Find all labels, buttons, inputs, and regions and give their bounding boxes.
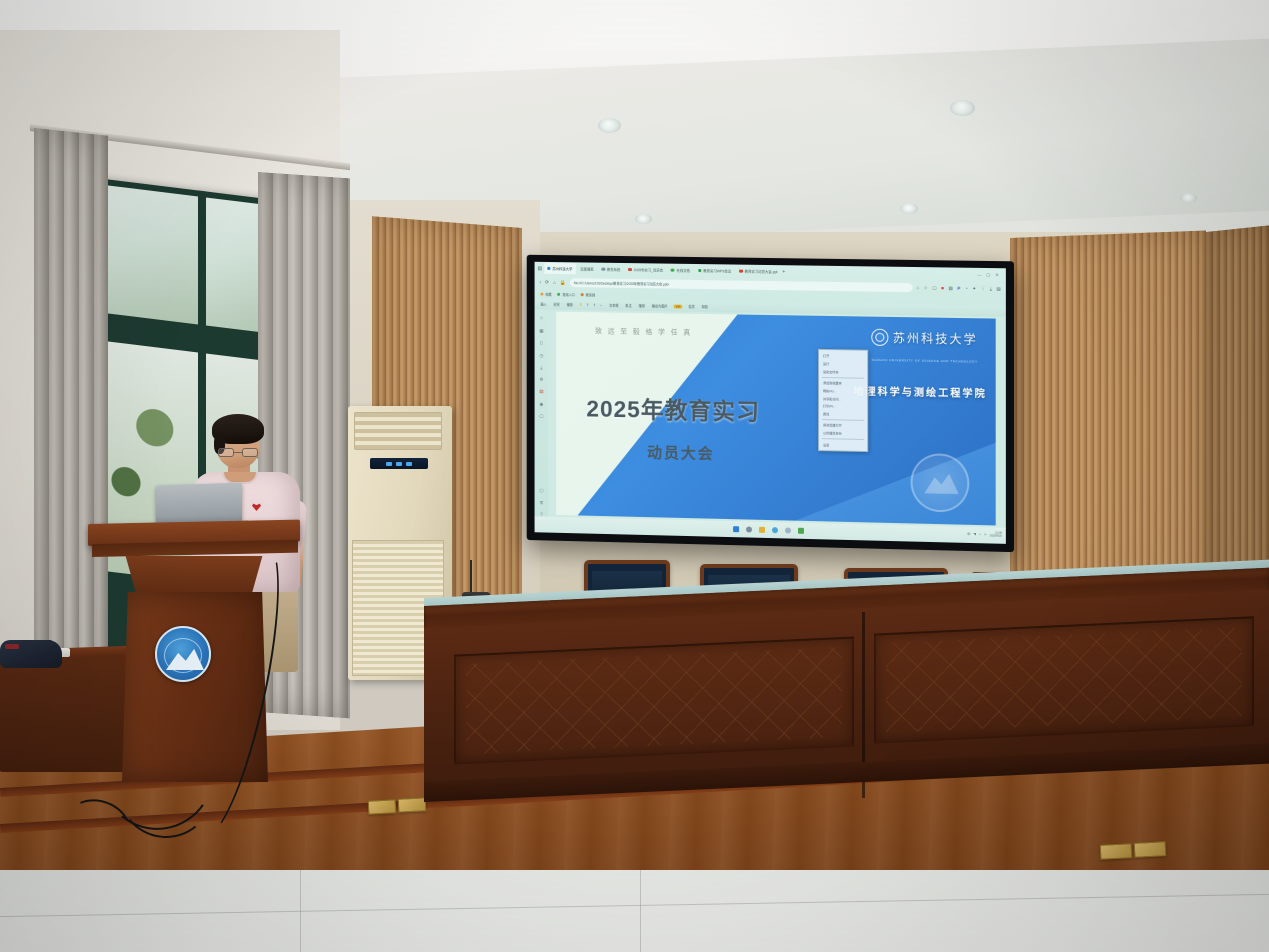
wps-tool-export[interactable]: 输出为图片 bbox=[651, 303, 669, 308]
trash-icon[interactable]: ▢ bbox=[539, 488, 543, 494]
slide-title: 2025年教育实习 bbox=[586, 389, 760, 426]
downlight-icon bbox=[950, 100, 975, 116]
context-menu-separator bbox=[822, 377, 864, 378]
favicon-icon bbox=[547, 267, 550, 271]
university-branding: 苏州科技大学 bbox=[872, 329, 978, 348]
table-panel-left bbox=[454, 636, 854, 764]
browser-tab[interactable]: 2025年实习_动员会 bbox=[625, 264, 666, 276]
settings-icon[interactable]: ⚙ bbox=[539, 376, 543, 382]
wps-tool-privilege[interactable]: 特权 bbox=[701, 304, 709, 309]
browser-tab[interactable]: 教育实习动员大会.ppt bbox=[736, 266, 780, 278]
favicon-icon bbox=[698, 269, 701, 273]
downlight-icon bbox=[1180, 193, 1197, 203]
college-name: 地理科学与测绘工程学院 bbox=[853, 382, 986, 400]
browser-toolbar-icons: ⌂ ☆ ▢ ■ ▧ P ◔ ✦ ⋮ ⤓ ▤ bbox=[916, 285, 1000, 292]
wps-tool-textbox[interactable]: 文本框 bbox=[608, 303, 619, 308]
context-menu-item[interactable]: 最新文件夹 bbox=[819, 367, 867, 376]
table-panel-right bbox=[874, 616, 1254, 743]
text-style-icon[interactable]: T bbox=[586, 303, 590, 307]
presentation-slide[interactable]: 致 远 至 毅 格 学 任 真 2025年教育实习 动员大会 苏州科技大学 SU… bbox=[556, 312, 996, 526]
downlight-icon bbox=[635, 214, 652, 224]
bookmark-label: 收藏 bbox=[545, 292, 551, 297]
context-menu[interactable]: 打开 运行 最新文件夹 添加到收藏夹 刷新(R)... 共享和访问... 打印(… bbox=[818, 349, 868, 452]
projection-screen[interactable]: ▤ 苏州科技大学 百度搜索 教务系统 2025年实习_动员会 bbox=[527, 255, 1014, 552]
browser-tab[interactable]: 在线文档 bbox=[668, 265, 693, 276]
glasses-bridge bbox=[234, 452, 242, 453]
menu-icon[interactable]: ⋮ bbox=[981, 286, 986, 292]
projected-desktop: ▤ 苏州科技大学 百度搜索 教务系统 2025年实习_动员会 bbox=[535, 262, 1006, 544]
text-align-icon[interactable]: T bbox=[593, 303, 597, 307]
wps-icon[interactable]: ■ bbox=[941, 286, 944, 291]
book-icon[interactable]: ▯ bbox=[540, 340, 542, 346]
browser-side-rail: ☆ ▦ ▯ ◷ ⤓ ⚙ ▤ ◉ ▢ ▢ ⛨ ? bbox=[535, 309, 549, 516]
context-menu-item[interactable]: 以管理员身份 bbox=[819, 429, 867, 438]
note-icon[interactable]: ▤ bbox=[539, 389, 543, 395]
bookmark-icon bbox=[540, 293, 543, 296]
tab-label: 在线文档 bbox=[676, 268, 689, 273]
text-color-icon[interactable]: T bbox=[579, 303, 583, 307]
browser-tab[interactable]: 百度搜索 bbox=[577, 263, 596, 274]
account-icon[interactable]: ◔ bbox=[965, 286, 968, 291]
window-icon[interactable]: ▢ bbox=[539, 413, 543, 419]
context-menu-separator bbox=[822, 419, 864, 420]
bookmark-icon[interactable]: ☆ bbox=[539, 315, 543, 321]
window-pane bbox=[102, 185, 198, 325]
browser-tab[interactable]: 教务系统 bbox=[599, 264, 624, 275]
system-tray: 中 ◥ ◑ ▭ 11:08 2025/9/20 bbox=[967, 531, 1001, 538]
wps-tool-zoom[interactable]: 缩放 bbox=[566, 302, 574, 307]
bookmark-item[interactable]: 教务网 bbox=[581, 292, 595, 297]
brass-floor-outlet[interactable] bbox=[398, 797, 427, 812]
downlight-icon bbox=[598, 118, 621, 133]
context-menu-item[interactable]: 设置 bbox=[819, 440, 867, 449]
close-button[interactable]: ✕ bbox=[995, 272, 998, 277]
podium-university-emblem-icon bbox=[155, 626, 211, 682]
wps-tool-comment[interactable]: 批注 bbox=[624, 303, 632, 308]
conference-room-photo: ▤ 苏州科技大学 百度搜索 教务系统 2025年实习_动员会 bbox=[0, 0, 1269, 952]
battery-icon[interactable]: ▭ bbox=[984, 532, 987, 536]
favicon-icon bbox=[739, 269, 742, 273]
glasses-lens-left bbox=[218, 448, 234, 457]
download-icon[interactable]: ⤓ bbox=[990, 286, 992, 291]
edge-icon[interactable] bbox=[771, 527, 777, 533]
tab-label: 教育实习WPS会议 bbox=[703, 268, 731, 273]
download-icon[interactable]: ⤓ bbox=[540, 365, 542, 370]
bookmark-label: 教务网 bbox=[586, 292, 595, 297]
favicon-icon bbox=[671, 268, 674, 272]
slide-handwriting-motto: 致 远 至 毅 格 学 任 真 bbox=[595, 327, 692, 339]
network-icon[interactable]: ◥ bbox=[973, 532, 975, 536]
collection-icon[interactable]: ▧ bbox=[948, 285, 952, 291]
downlight-icon bbox=[900, 203, 918, 214]
window-controls: — ▢ ✕ bbox=[977, 272, 1003, 277]
input-icon[interactable]: 中 bbox=[967, 532, 970, 536]
ac-louver-vent bbox=[354, 412, 442, 450]
grid-icon[interactable]: ▦ bbox=[539, 328, 543, 334]
favicon-icon bbox=[628, 268, 631, 272]
bookmark-label: 常用入口 bbox=[562, 292, 575, 297]
wps-tool-play[interactable]: 播放 bbox=[638, 303, 646, 308]
vip-badge: VIP bbox=[674, 304, 683, 308]
university-seal-icon bbox=[872, 329, 889, 346]
tab-label: 教育实习动员大会.ppt bbox=[745, 269, 778, 274]
bookmark-item[interactable]: 常用入口 bbox=[557, 292, 574, 297]
presenter-hair bbox=[212, 414, 264, 444]
watermark-seal-icon bbox=[910, 453, 969, 513]
volume-icon[interactable]: ◑ bbox=[979, 532, 981, 536]
clock-icon[interactable]: ◷ bbox=[539, 353, 543, 359]
context-menu-item[interactable]: 属性 bbox=[819, 410, 867, 419]
explorer-icon[interactable] bbox=[759, 527, 765, 533]
tab-list-icon[interactable]: ▤ bbox=[538, 265, 543, 271]
translate-icon[interactable]: P bbox=[957, 286, 960, 291]
brass-floor-outlet[interactable] bbox=[368, 799, 397, 814]
ac-led-display[interactable] bbox=[370, 458, 428, 469]
new-tab-button[interactable]: + bbox=[782, 269, 785, 275]
tab-label: 苏州科技大学 bbox=[552, 266, 572, 271]
home-icon[interactable]: ⌂ bbox=[553, 279, 556, 285]
minimize-button[interactable]: — bbox=[977, 272, 981, 277]
brass-floor-outlet[interactable] bbox=[1134, 841, 1167, 858]
browser-tab[interactable]: 苏州科技大学 bbox=[544, 263, 575, 274]
microphone-stem bbox=[470, 560, 472, 594]
back-icon[interactable]: ‹ bbox=[539, 279, 541, 285]
backpack-bag[interactable] bbox=[0, 640, 62, 668]
bookmark-icon bbox=[557, 293, 560, 296]
tab-label: 百度搜索 bbox=[580, 266, 593, 271]
table-diamond-pattern bbox=[886, 627, 1242, 733]
wps-text-tools: T T T ⌐ bbox=[579, 303, 603, 307]
reload-icon[interactable]: ⟳ bbox=[545, 279, 549, 285]
brass-floor-outlet[interactable] bbox=[1100, 843, 1133, 860]
favicon-icon bbox=[602, 267, 605, 271]
taskbar-clock[interactable]: 11:08 2025/9/20 bbox=[990, 531, 1002, 538]
wps-icon[interactable] bbox=[797, 528, 803, 534]
wps-tool-insert[interactable]: 插入 bbox=[539, 301, 547, 306]
maximize-button[interactable]: ▢ bbox=[986, 272, 990, 277]
browser-chrome: ▤ 苏州科技大学 百度搜索 教务系统 2025年实习_动员会 bbox=[535, 262, 1006, 317]
text-spacing-icon[interactable]: ⌐ bbox=[599, 303, 603, 307]
glasses-icon bbox=[218, 448, 258, 457]
slide-subtitle: 动员大会 bbox=[647, 442, 714, 464]
university-name: 苏州科技大学 bbox=[893, 329, 978, 348]
shield-icon[interactable]: ⛨ bbox=[540, 500, 543, 505]
globe-icon[interactable]: ◉ bbox=[539, 401, 543, 407]
tab-label: 2025年实习_动员会 bbox=[634, 267, 663, 272]
reader-icon[interactable]: ▢ bbox=[932, 285, 936, 291]
start-icon[interactable] bbox=[733, 526, 739, 532]
bookmark-icon bbox=[581, 293, 584, 296]
search-icon[interactable] bbox=[746, 526, 752, 532]
extension-icon[interactable]: ✦ bbox=[972, 285, 976, 291]
tab-label: 教务系统 bbox=[607, 267, 620, 272]
star-icon[interactable]: ☆ bbox=[924, 285, 928, 291]
browser-tab[interactable]: 教育实习WPS会议 bbox=[695, 265, 734, 277]
wps-tool-shape[interactable]: 形状 bbox=[553, 302, 561, 307]
share-icon[interactable]: ⌂ bbox=[916, 285, 919, 290]
sidebar-toggle-icon[interactable]: ▤ bbox=[996, 286, 1000, 292]
table-diamond-pattern bbox=[466, 647, 842, 754]
store-icon[interactable] bbox=[784, 527, 790, 533]
lock-icon: 🔒 bbox=[560, 279, 566, 285]
bookmark-item[interactable]: 收藏 bbox=[540, 292, 551, 297]
clock-date: 2025/9/20 bbox=[990, 534, 1002, 537]
wps-tool-member[interactable]: 会员 bbox=[687, 304, 695, 309]
glasses-lens-right bbox=[242, 448, 258, 457]
curtain-left[interactable] bbox=[34, 128, 108, 696]
